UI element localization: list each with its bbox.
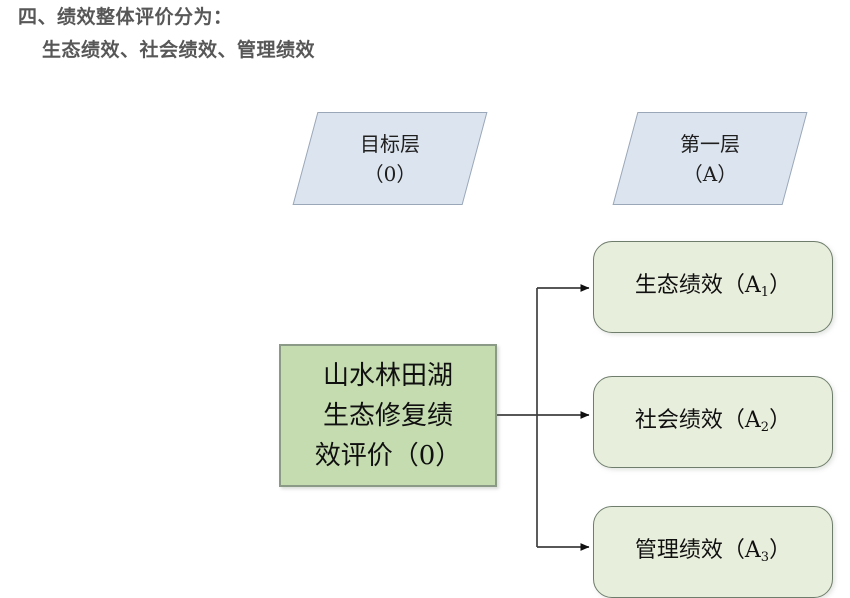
header-first-layer-label: 第一层 （A） xyxy=(625,112,795,205)
leaf-node-ecological-close: ） xyxy=(769,273,791,298)
header-goal-layer: 目标层 （0） xyxy=(305,112,475,205)
leaf-node-ecological: 生态绩效（A1） xyxy=(593,241,833,333)
header-goal-layer-label: 目标层 （0） xyxy=(305,112,475,205)
header-first-layer-line-1: 第一层 xyxy=(680,129,740,159)
leaf-node-management: 管理绩效（A3） xyxy=(593,506,833,598)
leaf-node-social-text: 社会绩效（A xyxy=(635,408,761,433)
leaf-node-management-close: ） xyxy=(769,538,791,563)
leaf-node-ecological-text: 生态绩效（A xyxy=(635,273,761,298)
page-title-line-1: 四、绩效整体评价分为： xyxy=(18,3,233,33)
leaf-node-management-text: 管理绩效（A xyxy=(635,538,761,563)
leaf-node-ecological-subscript: 1 xyxy=(761,285,769,300)
leaf-node-social-close: ） xyxy=(769,408,791,433)
leaf-node-management-subscript: 3 xyxy=(761,550,769,565)
leaf-node-social-label: 社会绩效（A2） xyxy=(635,406,791,439)
header-first-layer-line-2: （A） xyxy=(683,159,737,189)
root-node-line-3: 效评价（0） xyxy=(315,436,462,476)
root-node-line-1: 山水林田湖 xyxy=(315,356,462,396)
root-node: 山水林田湖 生态修复绩 效评价（0） xyxy=(279,344,497,487)
leaf-node-social: 社会绩效（A2） xyxy=(593,376,833,468)
header-goal-layer-line-1: 目标层 xyxy=(360,129,420,159)
root-node-line-2: 生态修复绩 xyxy=(315,396,462,436)
leaf-node-management-label: 管理绩效（A3） xyxy=(635,536,791,569)
header-goal-layer-line-2: （0） xyxy=(364,159,417,189)
header-first-layer: 第一层 （A） xyxy=(625,112,795,205)
root-node-label: 山水林田湖 生态修复绩 效评价（0） xyxy=(315,356,462,476)
page-title-line-2: 生态绩效、社会绩效、管理绩效 xyxy=(42,36,315,66)
leaf-node-ecological-label: 生态绩效（A1） xyxy=(635,271,791,304)
leaf-node-social-subscript: 2 xyxy=(761,420,769,435)
